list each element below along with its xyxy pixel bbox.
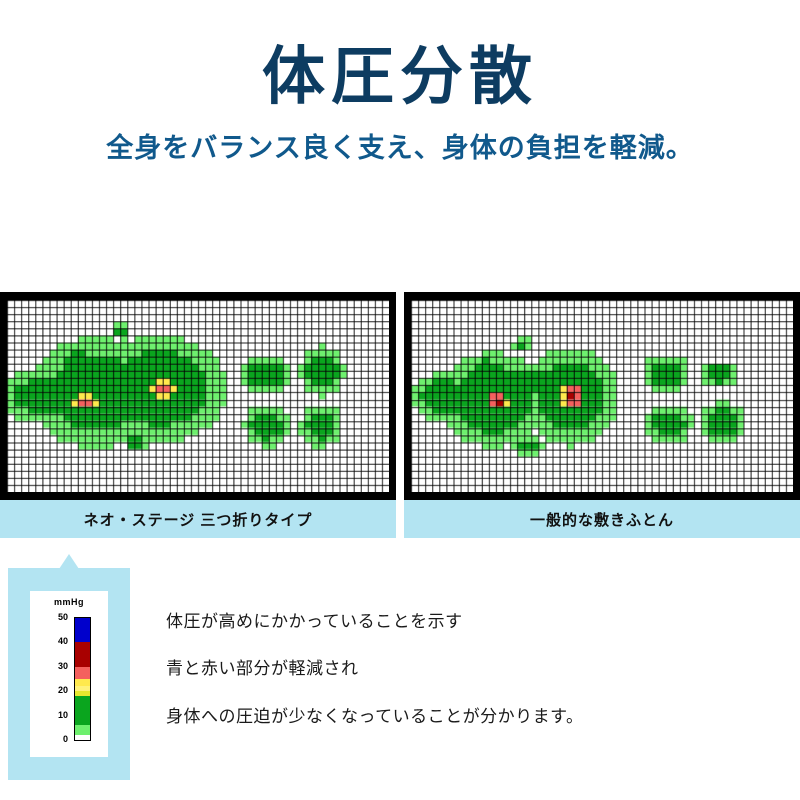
legend-tick: 0 [63,734,68,744]
note-line-3: 身体への圧迫が少なくなっていることが分かります。 [166,707,766,727]
caption-general-futon: 一般的な敷きふとん [404,500,800,538]
legend-band [75,618,90,630]
legend-band [75,655,90,667]
legend-tick-labels: 50403020100 [30,617,70,741]
legend-band [75,642,90,654]
panel-captions: ネオ・ステージ 三つ折りタイプ 一般的な敷きふとん [0,500,800,538]
legend-card: mmHg 50403020100 [30,591,108,757]
legend-band [75,716,90,726]
legend-pointer-icon [59,554,79,569]
pressure-distribution-page: 体圧分散 全身をバランス良く支え、身体の負担を軽減。 ネオ・ステージ 三つ折りタ… [0,0,800,800]
pressure-heatmap-general-futon [411,300,793,492]
legend-scale: 50403020100 [30,617,108,747]
legend-color-bar [74,617,91,741]
legend-band [75,672,90,679]
caption-divider [396,500,404,538]
legend-tick: 50 [58,612,68,622]
legend-tick: 30 [58,661,68,671]
header: 体圧分散 全身をバランス良く支え、身体の負担を軽減。 [0,0,800,165]
legend-callout: mmHg 50403020100 [8,568,130,780]
page-title: 体圧分散 [0,44,800,110]
legend-tick: 10 [58,710,68,720]
comparison-panels [0,292,800,500]
explanation-notes: 体圧が高めにかかっていることを示す 青と赤い部分が軽減され 身体への圧迫が少なく… [166,612,766,727]
note-line-1: 体圧が高めにかかっていることを示す [166,612,766,632]
legend-band [75,735,90,740]
legend-unit-label: mmHg [30,597,108,607]
pressure-heatmap-neo-stage [7,300,389,492]
pressure-map-frame-left [0,292,396,500]
legend-band [75,725,90,735]
page-subtitle: 全身をバランス良く支え、身体の負担を軽減。 [0,132,800,164]
panel-divider [396,292,404,500]
legend-tick: 20 [58,685,68,695]
legend-band [75,679,90,686]
panel-general-futon [404,292,800,500]
legend-band [75,630,90,642]
panel-neo-stage [0,292,396,500]
caption-neo-stage: ネオ・ステージ 三つ折りタイプ [0,500,396,538]
legend-tick: 40 [58,636,68,646]
legend-band [75,696,90,716]
pressure-map-frame-right [404,292,800,500]
note-line-2: 青と赤い部分が軽減され [166,659,766,679]
